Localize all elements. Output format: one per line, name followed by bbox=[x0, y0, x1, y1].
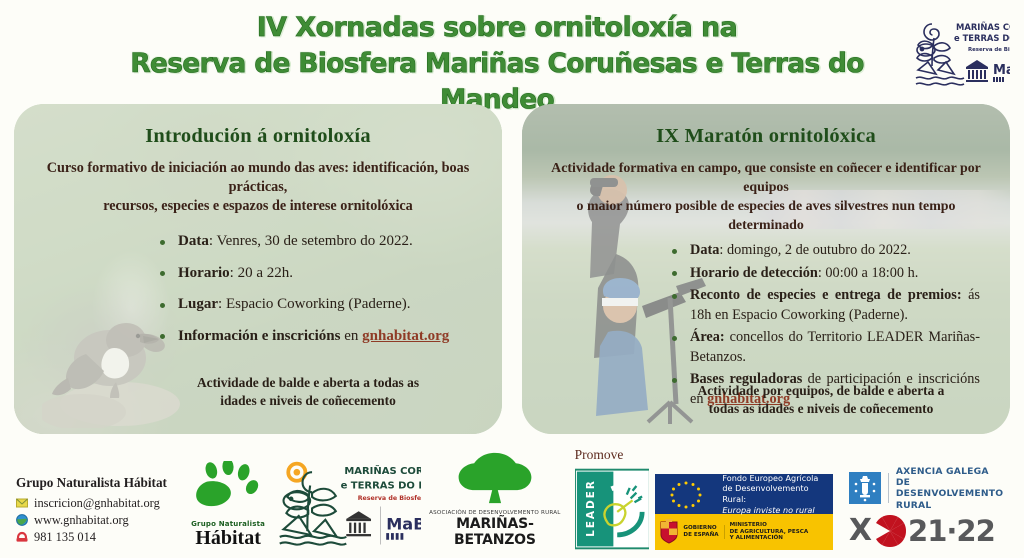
poster-header: IV Xornadas sobre ornitoloxía na Reserva… bbox=[0, 0, 1024, 104]
xacobeo-years: 21·22 bbox=[908, 516, 995, 546]
bullet-sep: : bbox=[230, 265, 238, 281]
bullet-text: domingo, 2 de outubro do 2022. bbox=[727, 242, 911, 258]
svg-text:e TERRAS DO MANDEO: e TERRAS DO MANDEO bbox=[954, 33, 1010, 43]
poster-footer: Grupo Naturalista Hábitat inscricion@gnh… bbox=[0, 434, 1024, 552]
telephone-icon bbox=[16, 531, 28, 543]
eu-flag-icon bbox=[655, 474, 717, 514]
left-footnote-line-1: Actividade de balde e aberta a todas as bbox=[197, 375, 419, 390]
bullet-sep: : bbox=[719, 242, 727, 258]
list-item: Horario: 20 a 22h. bbox=[154, 264, 480, 284]
organizer-email-row: inscricion@gnhabitat.org bbox=[16, 495, 182, 511]
promove-label: Promove bbox=[575, 447, 1014, 463]
paw-print-icon bbox=[191, 461, 265, 515]
svg-text:LEADER: LEADER bbox=[585, 479, 597, 537]
panel-ix-maraton-ornitoloxica: IX Maratón ornitolóxica Actividade forma… bbox=[522, 104, 1010, 434]
envelope-icon bbox=[16, 497, 28, 509]
gnhabitat-link[interactable]: gnhabitat.org bbox=[362, 328, 449, 344]
list-item: Área: concellos do Territorio LEADER Mar… bbox=[666, 328, 988, 367]
habitat-logo-caption-large: Hábitat bbox=[182, 527, 273, 550]
ministerio-line-3: Y ALIMENTACIÓN bbox=[730, 535, 809, 542]
bullet-label: Horario bbox=[178, 265, 230, 281]
bullet-label: Información e inscricións bbox=[178, 328, 341, 344]
tree-icon bbox=[443, 451, 547, 505]
bullet-sep: : bbox=[218, 296, 226, 312]
left-panel-lead: Curso formativo de iniciación ao mundo d… bbox=[36, 159, 480, 216]
globe-icon bbox=[16, 514, 28, 526]
gobierno-line-1: GOBIERNO bbox=[683, 525, 718, 532]
list-item: Información e inscricións en gnhabitat.o… bbox=[154, 327, 480, 347]
grupo-naturalista-habitat-logo: Grupo Naturalista Hábitat bbox=[182, 461, 273, 552]
bullet-label: Horario de detección bbox=[690, 265, 818, 281]
list-item: Horario de detección: 00:00 a 18:00 h. bbox=[666, 264, 988, 284]
right-footnote-line-2: todas as idades e niveis de coñecemento bbox=[709, 401, 934, 416]
left-lead-line-2: recursos, especies e espazos de interese… bbox=[103, 198, 413, 214]
xacobeo-2122-logo: X bbox=[849, 514, 1014, 548]
axencia-galega-block: AXENCIA GALEGA DE DESENVOLVEMENTO RURAL … bbox=[849, 466, 1014, 550]
list-item: Data: Venres, 30 de setembro do 2022. bbox=[154, 232, 480, 252]
left-panel-bullet-list: Data: Venres, 30 de setembro do 2022. Ho… bbox=[154, 232, 480, 346]
panels-container: Introdución á ornitoloxía Curso formativ… bbox=[0, 104, 1024, 434]
axencia-line-2: DE DESENVOLVEMENTO bbox=[896, 477, 1014, 500]
bullet-text: Espacio Coworking (Paderne). bbox=[226, 296, 411, 312]
bullet-text: 00:00 a 18:00 h. bbox=[825, 265, 918, 281]
bullet-label: Reconto de especies e entrega de premios… bbox=[690, 287, 962, 303]
eu-text-line-3: Europa inviste no rural bbox=[722, 505, 832, 516]
bullet-text: Venres, 30 de setembro do 2022. bbox=[216, 233, 412, 249]
organizer-contact-block: Grupo Naturalista Hábitat inscricion@gnh… bbox=[16, 475, 182, 552]
svg-text:Reserva de Biosfera: Reserva de Biosfera bbox=[968, 47, 1010, 53]
right-panel-lead: Actividade formativa en campo, que consi… bbox=[544, 159, 988, 235]
list-item: Reconto de especies e entrega de premios… bbox=[666, 286, 988, 325]
title-line-1: IV Xornadas sobre ornitoloxía na bbox=[257, 12, 738, 43]
eu-text-line-1: Fondo Europeo Agrícola bbox=[722, 473, 832, 484]
promove-block: Promove LEADER bbox=[575, 447, 1014, 552]
biosphere-line2: e TERRAS DO MANDEO bbox=[340, 480, 421, 491]
list-item: Data: domingo, 2 de outubro do 2022. bbox=[666, 241, 988, 261]
marinas-betanzos-logo: ASOCIACIÓN DE DESENVOLVEMENTO RURAL MARI… bbox=[421, 451, 568, 552]
organizer-website[interactable]: www.gnhabitat.org bbox=[34, 512, 129, 528]
left-panel-title: Introdución á ornitoloxía bbox=[36, 125, 480, 148]
panel-introducion-a-ornitoloxia: Introdución á ornitoloxía Curso formativ… bbox=[14, 104, 502, 434]
scallop-shell-icon bbox=[873, 514, 907, 548]
gobierno-line-2: DE ESPAÑA bbox=[683, 532, 718, 539]
right-lead-line-1: Actividade formativa en campo, que consi… bbox=[551, 161, 981, 195]
svg-text:MaB: MaB bbox=[993, 63, 1010, 78]
bullet-text: en bbox=[344, 328, 362, 344]
bullet-label: Área: bbox=[690, 329, 725, 345]
eu-text-line-2: de Desenvolvemento Rural: bbox=[722, 483, 832, 504]
left-panel-footnote: Actividade de balde e aberta a todas as … bbox=[146, 374, 470, 409]
eu-funding-top: Fondo Europeo Agrícola de Desenvolvement… bbox=[655, 474, 832, 514]
bullet-text: concellos do Territorio LEADER Mariñas-B… bbox=[690, 329, 980, 365]
organizer-phone-row: 981 135 014 bbox=[16, 529, 182, 545]
xunta-de-galicia-shield-icon bbox=[849, 472, 881, 504]
reserva-biosfera-logo-header: MARIÑAS CORUÑESAS e TERRAS DO MANDEO Res… bbox=[910, 8, 1010, 96]
spain-coat-of-arms-icon bbox=[658, 519, 680, 545]
organizer-phone: 981 135 014 bbox=[34, 529, 96, 545]
right-footnote-line-1: Actividade por equipos, de balde e abert… bbox=[698, 383, 945, 398]
divider bbox=[888, 473, 889, 503]
xacobeo-x: X bbox=[849, 516, 872, 546]
reserva-biosfera-logo-footer: MARIÑAS CORUÑESAS e TERRAS DO MANDEO Res… bbox=[274, 457, 421, 552]
left-footnote-line-2: idades e niveis de coñecemento bbox=[220, 393, 396, 408]
bullet-label: Data bbox=[690, 242, 719, 258]
bullet-label: Data bbox=[178, 233, 209, 249]
left-lead-line-1: Curso formativo de iniciación ao mundo d… bbox=[47, 160, 470, 195]
biosphere-line1: MARIÑAS CORUÑESAS bbox=[344, 464, 421, 477]
svg-text:MaB: MaB bbox=[386, 514, 421, 533]
feader-eu-funding-logo: Fondo Europeo Agrícola de Desenvolvement… bbox=[655, 474, 832, 550]
list-item: Lugar: Espacio Coworking (Paderne). bbox=[154, 295, 480, 315]
biosphere-line3: Reserva de Biosfera bbox=[357, 494, 421, 501]
organizer-website-row: www.gnhabitat.org bbox=[16, 512, 182, 528]
bullet-text: 20 a 22h. bbox=[238, 265, 293, 281]
organizer-name: Grupo Naturalista Hábitat bbox=[16, 475, 182, 491]
right-lead-line-2: o maior número posible de especies de av… bbox=[577, 199, 956, 233]
ministerio-line-1: MINISTERIO bbox=[730, 522, 809, 529]
bullet-label: Lugar bbox=[178, 296, 218, 312]
right-panel-footnote: Actividade por equipos, de balde e abert… bbox=[664, 382, 978, 417]
svg-text:MARIÑAS CORUÑESAS: MARIÑAS CORUÑESAS bbox=[956, 22, 1010, 32]
page-title: IV Xornadas sobre ornitoloxía na Reserva… bbox=[0, 10, 1024, 118]
gobierno-espana-band: GOBIERNO DE ESPAÑA MINISTERIO DE AGRICUL… bbox=[655, 514, 832, 550]
organizer-email[interactable]: inscricion@gnhabitat.org bbox=[34, 495, 160, 511]
axencia-line-1: AXENCIA GALEGA bbox=[896, 466, 1014, 477]
mb-caption-large: MARIÑAS-BETANZOS bbox=[421, 516, 568, 548]
right-panel-title: IX Maratón ornitolóxica bbox=[544, 125, 988, 148]
leader-logo: LEADER bbox=[575, 468, 650, 550]
axencia-line-3: RURAL bbox=[896, 500, 1014, 511]
